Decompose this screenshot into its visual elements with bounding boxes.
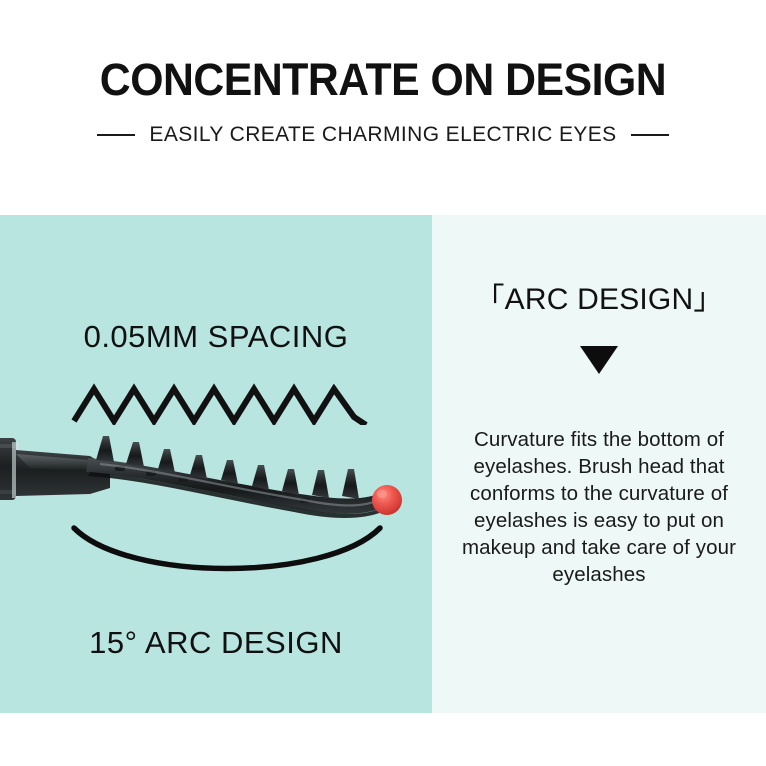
bracket-open-icon: 「 <box>474 283 504 316</box>
arc-design-heading-text: ARC DESIGN <box>505 283 694 316</box>
spacing-label: 0.05MM SPACING <box>0 319 432 355</box>
page-subtitle: EASILY CREATE CHARMING ELECTRIC EYES <box>149 122 616 148</box>
feature-panels: 0.05MM SPACING <box>0 215 766 713</box>
subtitle-row: EASILY CREATE CHARMING ELECTRIC EYES <box>0 122 766 148</box>
triangle-marker-wrap <box>432 346 766 379</box>
footer-spacer <box>0 713 766 766</box>
page-title: CONCENTRATE ON DESIGN <box>19 54 747 106</box>
divider-dash-left-icon <box>97 134 135 136</box>
arc-curve-icon <box>68 520 386 592</box>
down-triangle-icon <box>580 346 618 374</box>
product-feature-banner: CONCENTRATE ON DESIGN EASILY CREATE CHAR… <box>0 0 766 766</box>
zigzag-icon <box>70 373 370 425</box>
arc-description-text: Curvature fits the bottom of eyelashes. … <box>448 426 750 588</box>
arc-design-heading: 「ARC DESIGN」 <box>432 281 766 319</box>
divider-dash-right-icon <box>631 134 669 136</box>
arc-design-label: 15° ARC DESIGN <box>0 625 432 661</box>
panel-spacing-arc: 0.05MM SPACING <box>0 215 432 713</box>
header-section: CONCENTRATE ON DESIGN EASILY CREATE CHAR… <box>0 0 766 215</box>
product-image-mascara-wand <box>0 420 432 530</box>
bracket-close-icon: 」 <box>693 283 723 316</box>
panel-arc-description: 「ARC DESIGN」 Curvature fits the bottom o… <box>432 215 766 713</box>
